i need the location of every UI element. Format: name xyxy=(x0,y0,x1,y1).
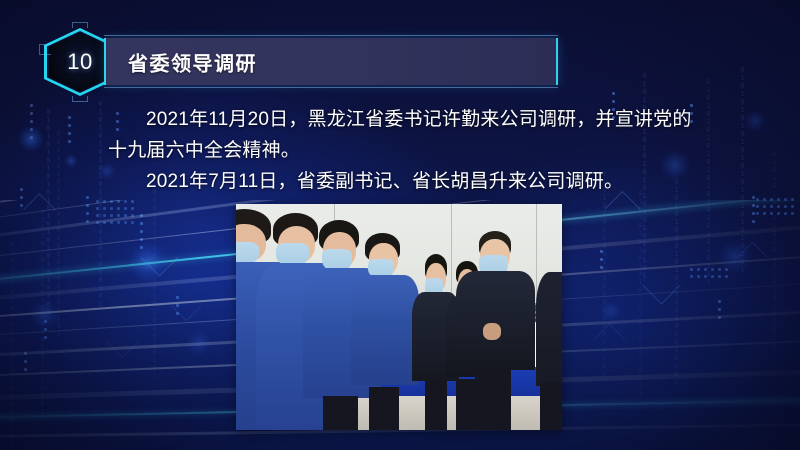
paragraph-1: 2021年11月20日，黑龙江省委书记许勤来公司调研，并宣讲党的十九届六中全会精… xyxy=(108,104,704,166)
paragraph-2: 2021年7月11日，省委副书记、省长胡昌升来公司调研。 xyxy=(108,166,704,197)
photo-person-worker xyxy=(353,233,418,430)
photo-person-leader xyxy=(464,231,526,430)
presentation-slide: 01010101010101010101010101 0101010101010… xyxy=(0,0,800,450)
body-text-block: 2021年11月20日，黑龙江省委书记许勤来公司调研，并宣讲党的十九届六中全会精… xyxy=(108,104,704,197)
bracket-bottom-icon xyxy=(72,96,88,102)
slide-title-bar: 省委领导调研 xyxy=(104,38,558,85)
inspection-photo: 以“科技 智能 绿色”为支撑 全面助力做强“双主业” 坚定不移实现 xyxy=(236,204,562,430)
photo-leader-hands xyxy=(483,323,502,341)
photo-person-partial xyxy=(536,272,562,430)
page-title: 省委领导调研 xyxy=(128,47,257,76)
